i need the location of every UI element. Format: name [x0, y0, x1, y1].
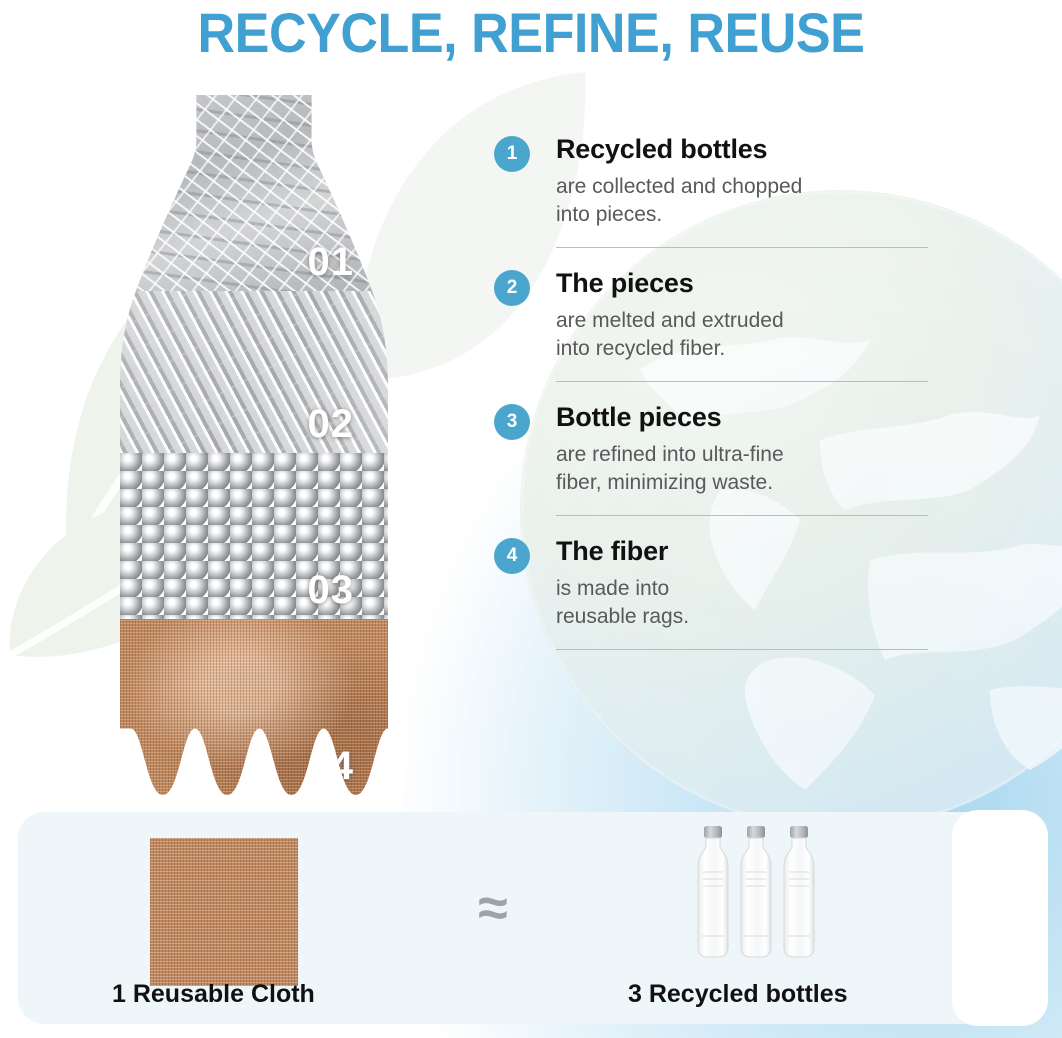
approximately-equal-icon: ≈ [463, 880, 523, 940]
process-steps-list: 1 Recycled bottles are collected and cho… [494, 132, 934, 668]
step-text-2-line1: are melted and extruded [556, 307, 934, 335]
step-badge-3: 3 [494, 404, 530, 440]
step-title-1: Recycled bottles [556, 132, 934, 166]
step-divider-2 [556, 381, 928, 382]
process-step-3: 3 Bottle pieces are refined into ultra-f… [494, 400, 934, 497]
segment-number-01: 01 [308, 240, 355, 285]
step-badge-1: 1 [494, 136, 530, 172]
segment-number-03: 03 [308, 568, 355, 613]
page-title: RECYCLE, REFINE, REUSE [37, 2, 1025, 64]
step-text-1-line1: are collected and chopped [556, 173, 934, 201]
bottles-label: 3 Recycled bottles [628, 980, 848, 1009]
bottle-segment-03: 03 [120, 453, 388, 619]
recycled-bottles-illustration [688, 824, 838, 964]
step-divider-1 [556, 247, 928, 248]
process-step-2: 2 The pieces are melted and extruded int… [494, 266, 934, 363]
step-text-4-line2: reusable rags. [556, 603, 934, 631]
cloth-label: 1 Reusable Cloth [112, 980, 315, 1009]
bottle-segment-01: 01 [120, 95, 388, 291]
bottle-segment-02: 02 [120, 291, 388, 453]
step-title-3: Bottle pieces [556, 400, 934, 434]
bottle-segment-04: 04 [120, 619, 388, 795]
step-text-2-line2: into recycled fiber. [556, 335, 934, 363]
process-step-4: 4 The fiber is made into reusable rags. [494, 534, 934, 631]
step-badge-4: 4 [494, 538, 530, 574]
step-badge-2: 2 [494, 270, 530, 306]
segment-number-02: 02 [308, 402, 355, 447]
segment-number-04: 04 [308, 744, 355, 789]
step-text-4-line1: is made into [556, 575, 934, 603]
step-title-4: The fiber [556, 534, 934, 568]
step-text-3-line1: are refined into ultra-fine [556, 441, 934, 469]
reusable-cloth-swatch [150, 838, 298, 986]
step-title-2: The pieces [556, 266, 934, 300]
step-text-3-line2: fiber, minimizing waste. [556, 469, 934, 497]
process-step-1: 1 Recycled bottles are collected and cho… [494, 132, 934, 229]
step-divider-4 [556, 649, 928, 650]
step-divider-3 [556, 515, 928, 516]
infographic-page: RECYCLE, REFINE, REUSE 01 02 03 [0, 0, 1062, 1038]
step-text-1-line2: into pieces. [556, 201, 934, 229]
card-right-white-overlay [952, 810, 1048, 1026]
bottle-diagram: 01 02 03 04 [120, 95, 388, 795]
